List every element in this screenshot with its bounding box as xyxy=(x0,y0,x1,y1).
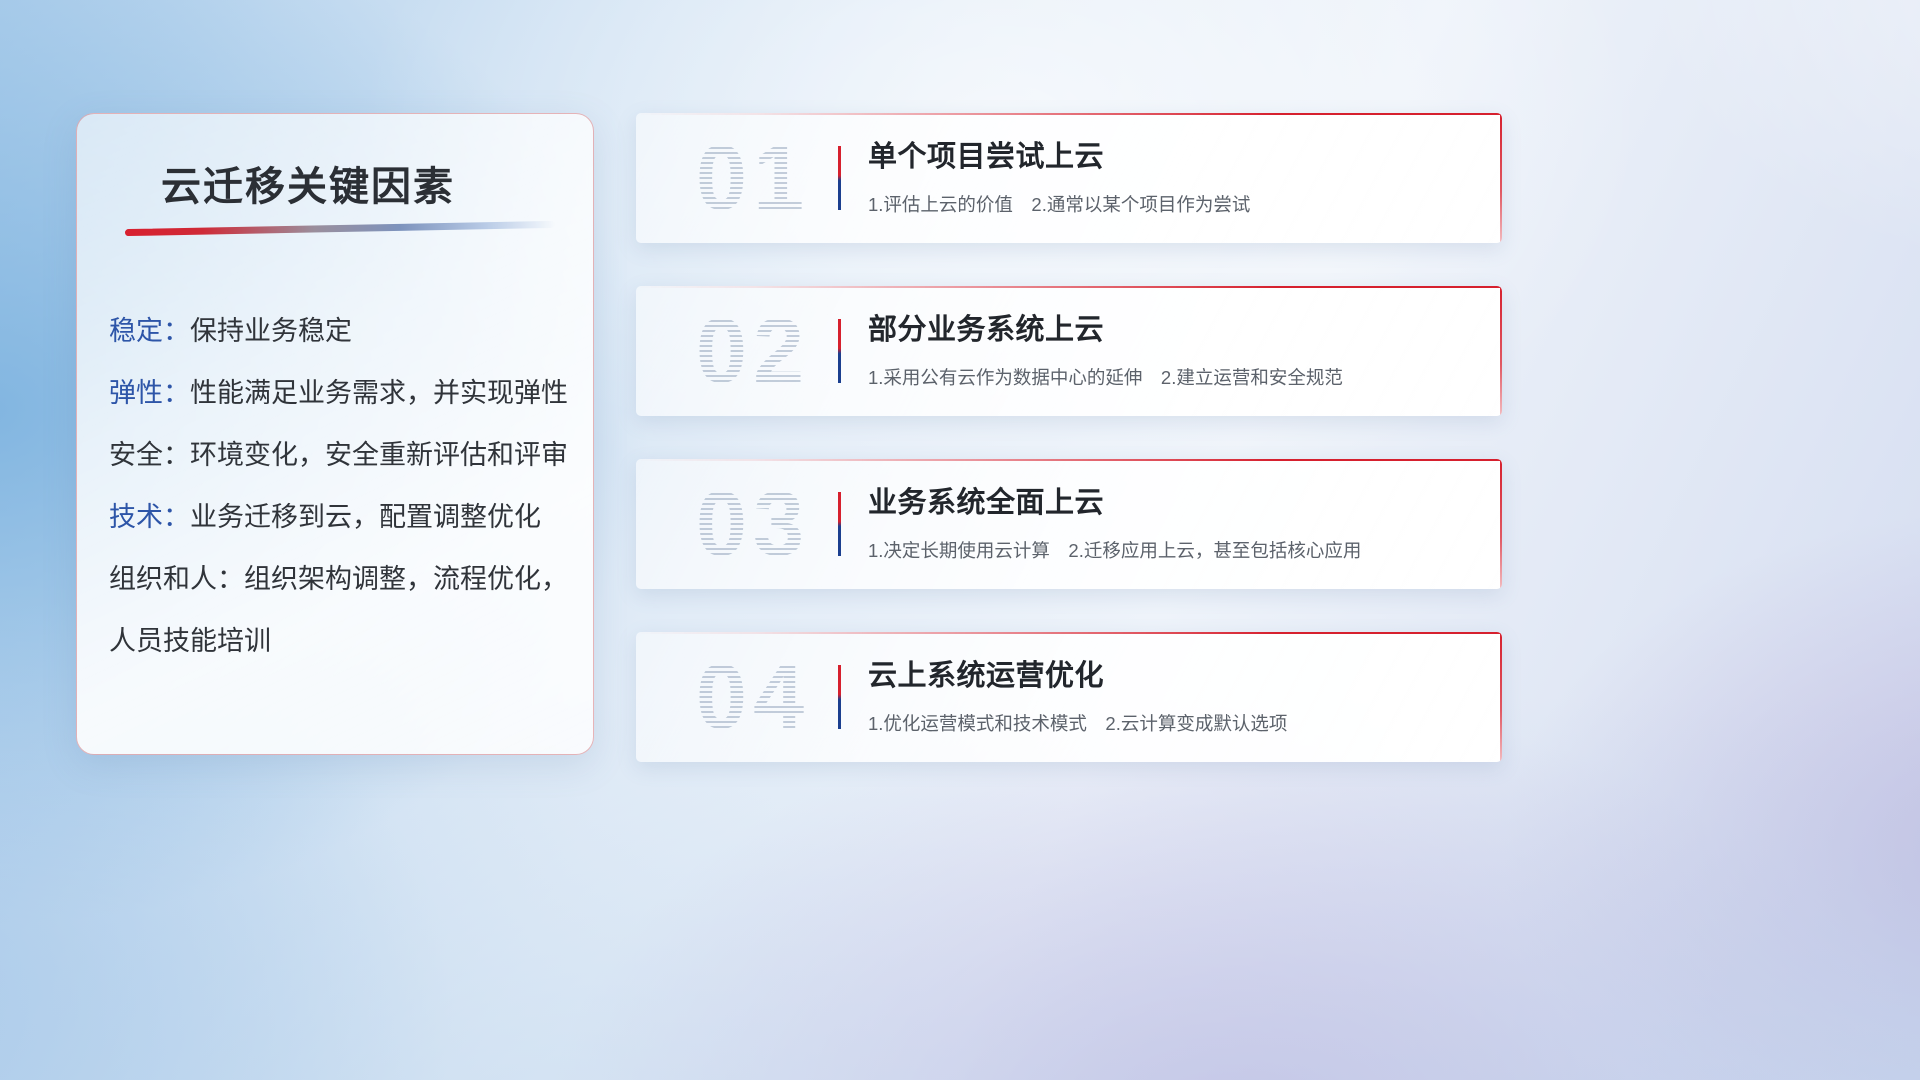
key-factor-label: 安全： xyxy=(109,440,190,470)
card-top-accent-line xyxy=(636,632,1502,634)
migration-stage-card[interactable]: 03业务系统全面上云1.决定长期使用云计算 2.迁移应用上云，甚至包括核心应用 xyxy=(636,459,1502,589)
card-step-number-text: 01 xyxy=(696,117,810,239)
card-title: 业务系统全面上云 xyxy=(868,479,1476,521)
card-step-number-watermark: 04 xyxy=(658,636,848,758)
card-title: 云上系统运营优化 xyxy=(868,652,1476,694)
key-factor-row: 组织和人：组织架构调整，流程优化， xyxy=(109,548,569,610)
card-body: 云上系统运营优化1.优化运营模式和技术模式 2.云计算变成默认选项 xyxy=(868,652,1476,736)
migration-stage-card[interactable]: 04云上系统运营优化1.优化运营模式和技术模式 2.云计算变成默认选项 xyxy=(636,632,1502,762)
key-factor-row: 稳定：保持业务稳定 xyxy=(109,300,569,362)
card-right-accent-line xyxy=(1500,286,1502,416)
panel-title-underline xyxy=(125,221,555,236)
card-divider-bar xyxy=(838,665,841,729)
key-factor-text: 业务迁移到云，配置调整优化 xyxy=(190,502,541,532)
key-factor-row: 安全：环境变化，安全重新评估和评审 xyxy=(109,424,569,486)
panel-title: 云迁移关键因素 xyxy=(161,154,455,212)
card-description: 1.决定长期使用云计算 2.迁移应用上云，甚至包括核心应用 xyxy=(868,537,1476,563)
card-right-accent-line xyxy=(1500,459,1502,589)
card-divider-bar xyxy=(838,319,841,383)
card-step-number-watermark: 01 xyxy=(658,117,848,239)
key-factor-text: 组织架构调整，流程优化， xyxy=(244,564,568,594)
key-factor-label: 稳定： xyxy=(109,316,190,346)
key-factor-text: 人员技能培训 xyxy=(109,626,271,656)
card-top-accent-line xyxy=(636,286,1502,288)
card-step-number-text: 04 xyxy=(696,636,810,758)
key-factor-label: 组织和人： xyxy=(109,564,244,594)
card-right-accent-line xyxy=(1500,113,1502,243)
key-factor-text: 环境变化，安全重新评估和评审 xyxy=(190,440,568,470)
migration-stage-card[interactable]: 02部分业务系统上云1.采用公有云作为数据中心的延伸 2.建立运营和安全规范 xyxy=(636,286,1502,416)
key-factor-row: 人员技能培训 xyxy=(109,610,569,672)
card-description: 1.采用公有云作为数据中心的延伸 2.建立运营和安全规范 xyxy=(868,364,1476,390)
card-divider-bar xyxy=(838,146,841,210)
card-body: 单个项目尝试上云1.评估上云的价值 2.通常以某个项目作为尝试 xyxy=(868,133,1476,217)
key-factor-row: 弹性：性能满足业务需求，并实现弹性 xyxy=(109,362,569,424)
card-step-number-watermark: 02 xyxy=(658,290,848,412)
card-top-accent-line xyxy=(636,459,1502,461)
card-step-number-text: 02 xyxy=(696,290,810,412)
card-body: 业务系统全面上云1.决定长期使用云计算 2.迁移应用上云，甚至包括核心应用 xyxy=(868,479,1476,563)
key-factor-row: 技术：业务迁移到云，配置调整优化 xyxy=(109,486,569,548)
card-right-accent-line xyxy=(1500,632,1502,762)
card-description: 1.评估上云的价值 2.通常以某个项目作为尝试 xyxy=(868,191,1476,217)
key-factor-label: 弹性： xyxy=(109,378,190,408)
migration-stage-card[interactable]: 01单个项目尝试上云1.评估上云的价值 2.通常以某个项目作为尝试 xyxy=(636,113,1502,243)
key-factor-text: 保持业务稳定 xyxy=(190,316,352,346)
key-factors-list: 稳定：保持业务稳定弹性：性能满足业务需求，并实现弹性安全：环境变化，安全重新评估… xyxy=(109,300,569,672)
card-divider-bar xyxy=(838,492,841,556)
card-description: 1.优化运营模式和技术模式 2.云计算变成默认选项 xyxy=(868,710,1476,736)
migration-stage-card-list: 01单个项目尝试上云1.评估上云的价值 2.通常以某个项目作为尝试02部分业务系… xyxy=(636,113,1502,805)
card-step-number-watermark: 03 xyxy=(658,463,848,585)
card-title: 单个项目尝试上云 xyxy=(868,133,1476,175)
key-factors-panel: 云迁移关键因素 稳定：保持业务稳定弹性：性能满足业务需求，并实现弹性安全：环境变… xyxy=(76,113,594,755)
card-body: 部分业务系统上云1.采用公有云作为数据中心的延伸 2.建立运营和安全规范 xyxy=(868,306,1476,390)
key-factor-label: 技术： xyxy=(109,502,190,532)
key-factor-text: 性能满足业务需求，并实现弹性 xyxy=(190,378,568,408)
card-top-accent-line xyxy=(636,113,1502,115)
card-title: 部分业务系统上云 xyxy=(868,306,1476,348)
card-step-number-text: 03 xyxy=(696,463,810,585)
